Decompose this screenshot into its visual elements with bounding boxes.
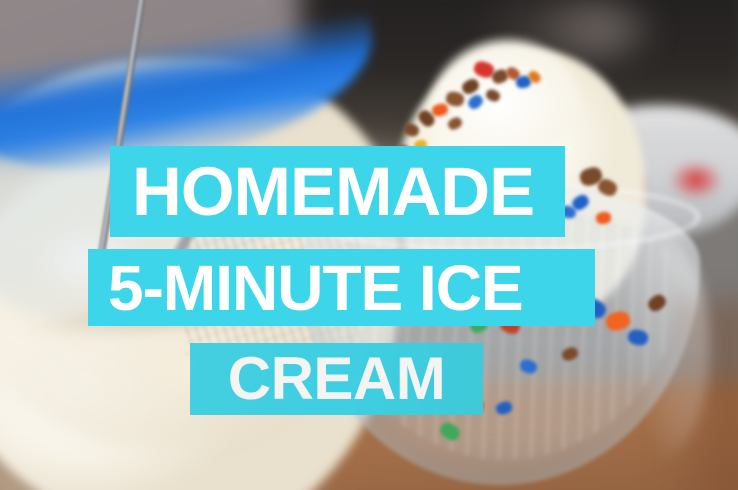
title-banner-line-1: HOMEMADE (110, 146, 565, 237)
title-line-2-text: 5-MINUTE ICE (108, 256, 523, 320)
title-banner-line-2: 5-MINUTE ICE (88, 249, 595, 326)
title-card: HOMEMADE 5-MINUTE ICE CREAM (0, 0, 738, 490)
title-line-1-text: HOMEMADE (132, 157, 534, 226)
title-banner-line-3: CREAM (190, 343, 483, 415)
title-overlay: HOMEMADE 5-MINUTE ICE CREAM (0, 0, 738, 490)
title-line-3-text: CREAM (228, 349, 446, 409)
